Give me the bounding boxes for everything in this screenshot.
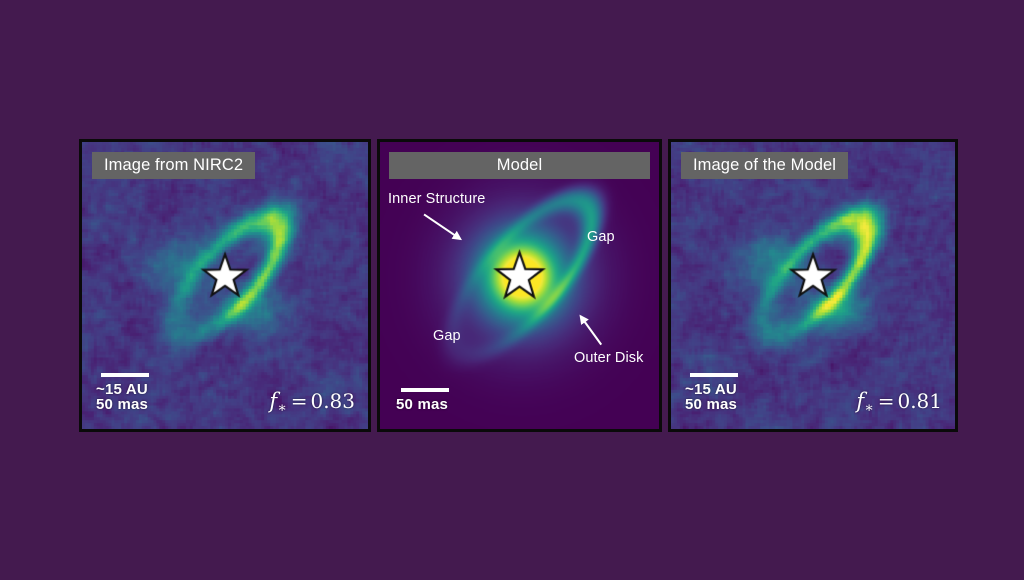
- scale-bar-label-mas: 50 mas: [685, 397, 738, 413]
- figure-root: Image from NIRC2 ~15 AU 50 mas f∗=0.83 M…: [0, 0, 1024, 580]
- panel-model: Model Inner Structure Gap Gap Outer Disk…: [377, 139, 662, 432]
- scale-bar: ~15 AU 50 mas: [685, 373, 738, 413]
- annotation-inner-structure: Inner Structure: [388, 191, 485, 207]
- annotation-gap-lower-left: Gap: [433, 328, 461, 344]
- f-equals: =: [878, 389, 895, 413]
- scale-bar: ~15 AU 50 mas: [96, 373, 149, 413]
- f-value: 0.83: [310, 389, 355, 413]
- panel-image-of-the-model: Image of the Model ~15 AU 50 mas f∗=0.81: [668, 139, 958, 432]
- scale-bar-line: [690, 373, 738, 377]
- panel-image-from-nirc2: Image from NIRC2 ~15 AU 50 mas f∗=0.83: [79, 139, 371, 432]
- panel-title-badge: Image of the Model: [681, 152, 848, 179]
- f-equals: =: [291, 389, 308, 413]
- annotation-outer-disk: Outer Disk: [574, 350, 644, 366]
- scale-bar: 50 mas: [396, 388, 449, 413]
- scale-bar-label-mas: 50 mas: [96, 397, 149, 413]
- stellar-flux-annotation: f∗=0.81: [856, 389, 942, 416]
- f-subscript: ∗: [864, 400, 874, 416]
- annotation-gap-upper-right: Gap: [587, 229, 615, 245]
- scale-bar-label-mas: 50 mas: [396, 397, 449, 413]
- model-canvas: [380, 142, 659, 429]
- f-subscript: ∗: [277, 400, 287, 416]
- panel-title-badge: Image from NIRC2: [92, 152, 255, 179]
- f-value: 0.81: [897, 389, 942, 413]
- panel-title-badge: Model: [389, 152, 650, 179]
- scale-bar-line: [101, 373, 149, 377]
- stellar-flux-annotation: f∗=0.83: [269, 389, 355, 416]
- scale-bar-label-au: ~15 AU: [96, 382, 149, 398]
- scale-bar-line: [401, 388, 449, 392]
- scale-bar-label-au: ~15 AU: [685, 382, 738, 398]
